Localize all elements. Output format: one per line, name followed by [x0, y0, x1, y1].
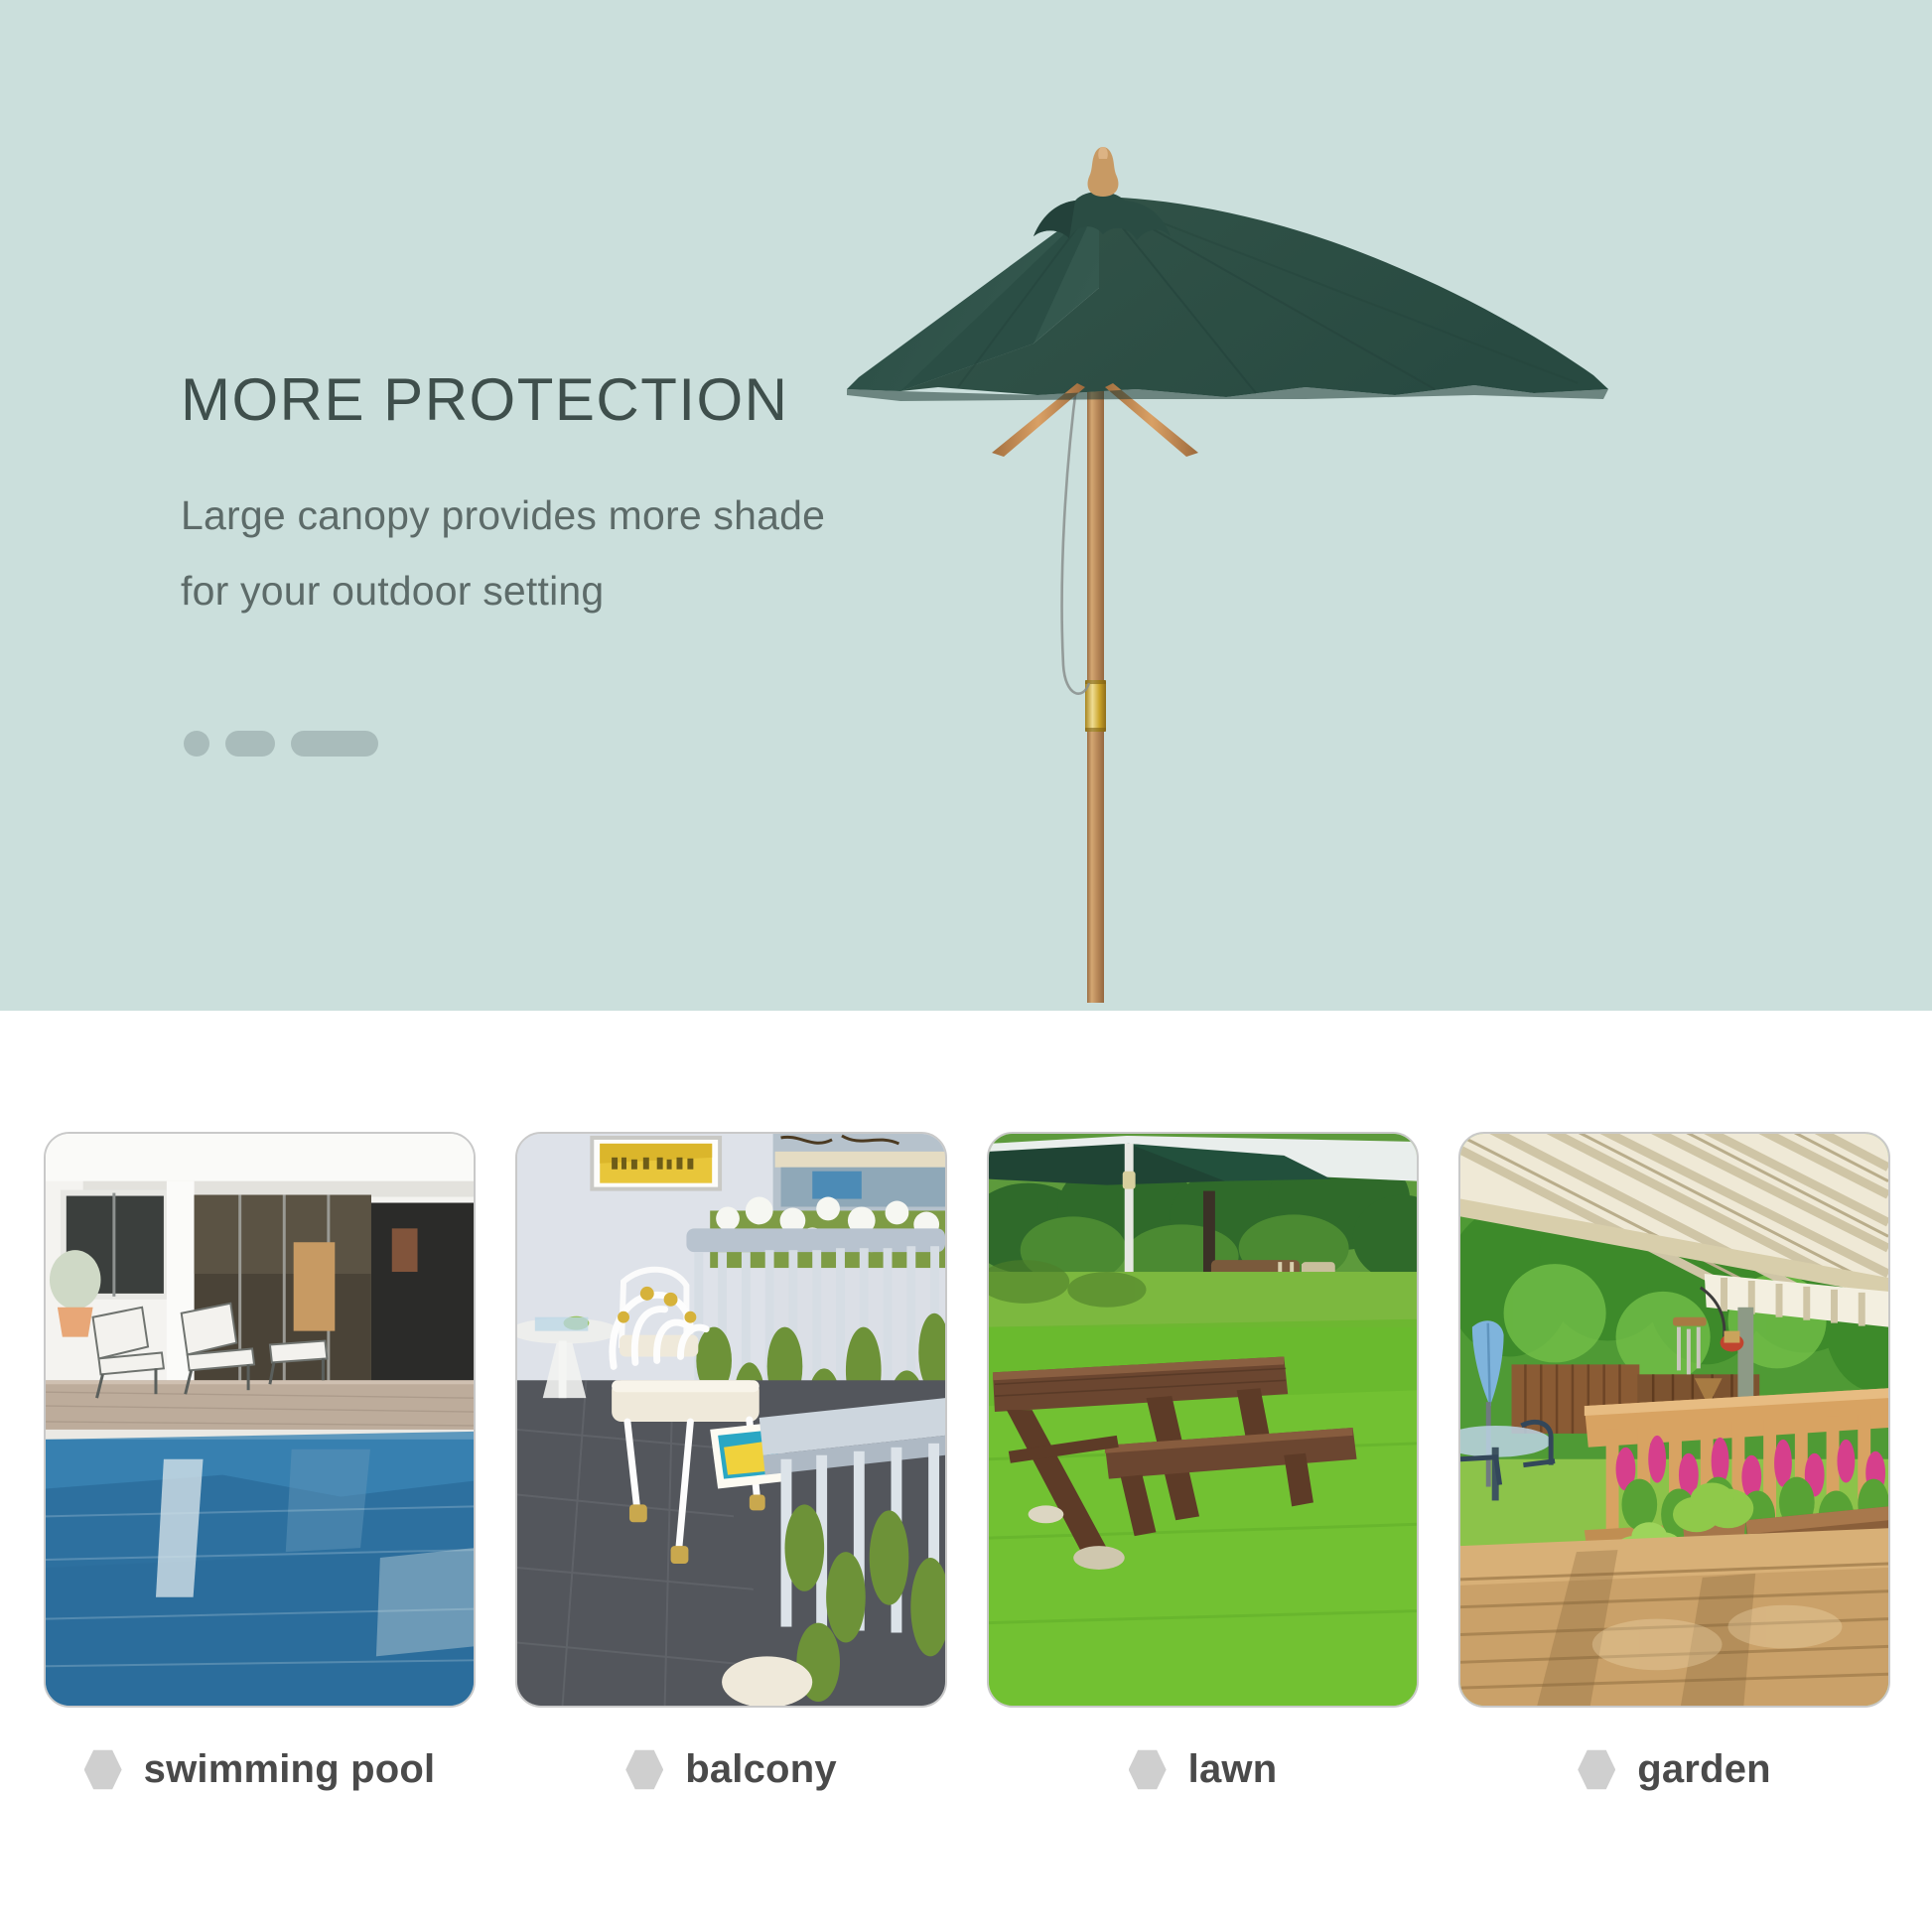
scenario-card-lawn[interactable]	[987, 1132, 1419, 1708]
scenario-photo-lawn	[989, 1134, 1417, 1706]
scenario-photo-balcony	[517, 1134, 945, 1706]
scenario-caption-row: swimming pool balcony lawn garden	[44, 1747, 1890, 1792]
scenario-card-row	[44, 1132, 1890, 1708]
hexagon-bullet-icon	[625, 1749, 663, 1791]
hero-panel: MORE PROTECTION Large canopy provides mo…	[0, 0, 1932, 1011]
caption-label: swimming pool	[144, 1747, 436, 1792]
pagination-dot-1[interactable]	[184, 731, 209, 757]
scenario-photo-garden	[1460, 1134, 1888, 1706]
patio-umbrella-image	[839, 139, 1842, 1011]
scenario-card-swimming-pool[interactable]	[44, 1132, 476, 1708]
hexagon-bullet-icon	[84, 1749, 122, 1791]
caption-lawn: lawn	[987, 1747, 1419, 1792]
caption-balcony: balcony	[515, 1747, 947, 1792]
hero-subtitle-line-1: Large canopy provides more shade	[181, 492, 825, 538]
hexagon-bullet-icon	[1129, 1749, 1167, 1791]
caption-swimming-pool: swimming pool	[44, 1747, 476, 1792]
caption-garden: garden	[1458, 1747, 1890, 1792]
caption-label: lawn	[1188, 1747, 1278, 1792]
pagination-pill-3[interactable]	[291, 731, 378, 757]
usage-scenario-gallery: swimming pool balcony lawn garden	[0, 1011, 1932, 1932]
pagination-pill-2[interactable]	[225, 731, 275, 757]
scenario-photo-swimming-pool	[46, 1134, 474, 1706]
scenario-card-balcony[interactable]	[515, 1132, 947, 1708]
hero-subtitle-line-2: for your outdoor setting	[181, 568, 604, 614]
hexagon-bullet-icon	[1578, 1749, 1615, 1791]
product-feature-page: MORE PROTECTION Large canopy provides mo…	[0, 0, 1932, 1932]
scenario-card-garden[interactable]	[1458, 1132, 1890, 1708]
caption-label: balcony	[685, 1747, 837, 1792]
carousel-pagination[interactable]	[184, 731, 378, 757]
caption-label: garden	[1637, 1747, 1771, 1792]
